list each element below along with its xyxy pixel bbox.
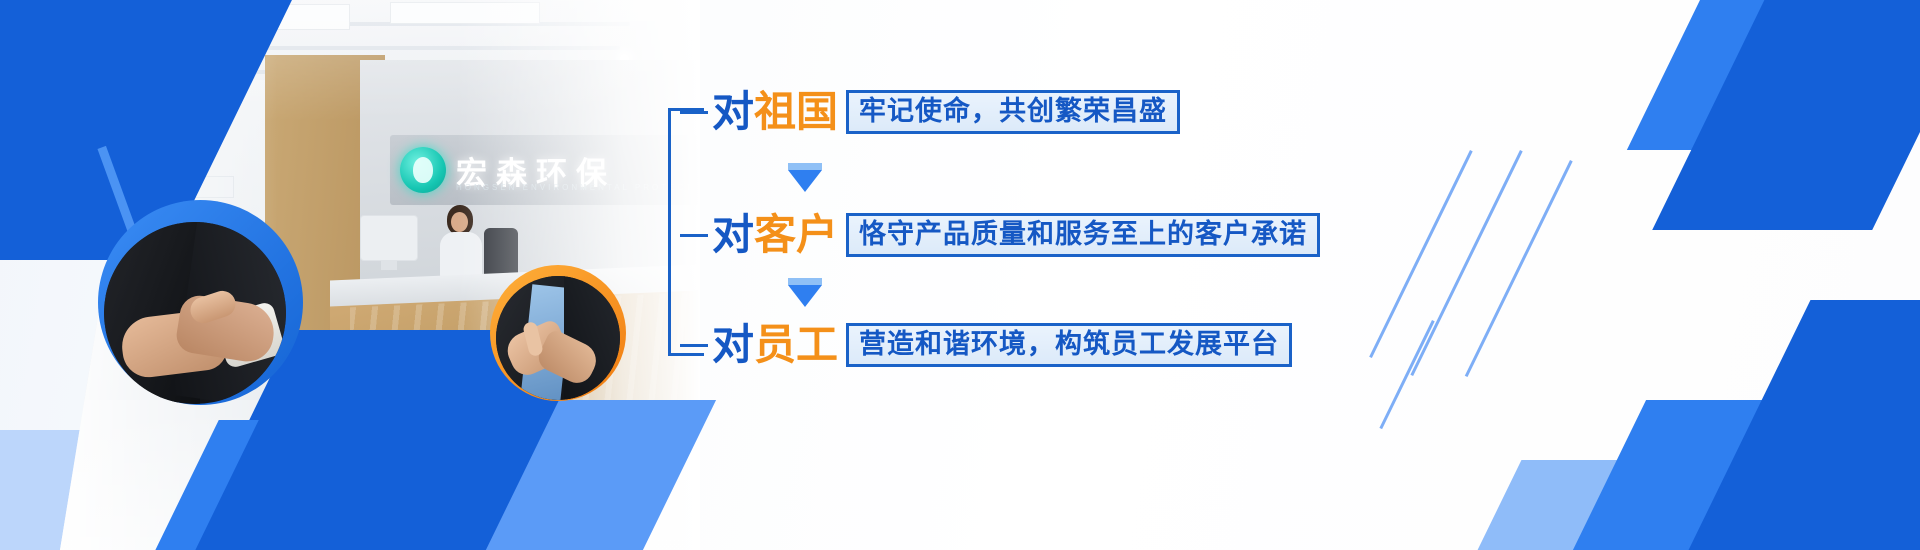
values-content: 对祖国 牢记使命，共创繁荣昌盛 对客户 恪守产品质量和服务至上的客户承诺 对员工… [640,0,1360,550]
tagbox-country: 牢记使命，共创繁荣昌盛 [846,90,1180,134]
row-tick [680,344,708,347]
down-arrow-2-cap [788,278,822,285]
row-tick [680,111,708,114]
decor-diagonal-line [1369,150,1473,358]
headline-target: 客户 [754,210,838,259]
down-arrow-1-cap [788,163,822,170]
tag-text-country: 牢记使命，共创繁荣昌盛 [859,96,1167,127]
headline-prefix: 对 [712,210,754,259]
decor-diagonal-line [1410,150,1522,376]
headline-customer: 对客户 [712,214,838,256]
value-row-employee: 对员工 营造和谐环境，构筑员工发展平台 [680,318,1292,372]
decor-diagonal-line [1379,320,1434,429]
headline-country: 对祖国 [712,91,838,133]
company-values-banner: 宏森环保 HONGSEN ENVIRONMENTAL PROTECTION [0,0,1920,550]
headline-prefix: 对 [712,320,754,369]
tag-text-customer: 恪守产品质量和服务至上的客户承诺 [859,219,1307,250]
down-arrow-2-icon [788,285,822,307]
tag-text-employee: 营造和谐环境，构筑员工发展平台 [859,329,1279,360]
headline-employee: 对员工 [712,324,838,366]
tagbox-customer: 恪守产品质量和服务至上的客户承诺 [846,213,1320,257]
handshake-photo [104,222,286,404]
headline-target: 员工 [754,320,838,369]
row-tick [680,234,708,237]
tagbox-employee: 营造和谐环境，构筑员工发展平台 [846,323,1292,367]
headline-prefix: 对 [712,87,754,136]
headline-target: 祖国 [754,87,838,136]
value-row-customer: 对客户 恪守产品质量和服务至上的客户承诺 [680,208,1320,262]
applause-photo [496,276,620,400]
value-row-country: 对祖国 牢记使命，共创繁荣昌盛 [680,85,1180,139]
decor-diagonal-line [1465,160,1573,377]
down-arrow-1-icon [788,170,822,192]
